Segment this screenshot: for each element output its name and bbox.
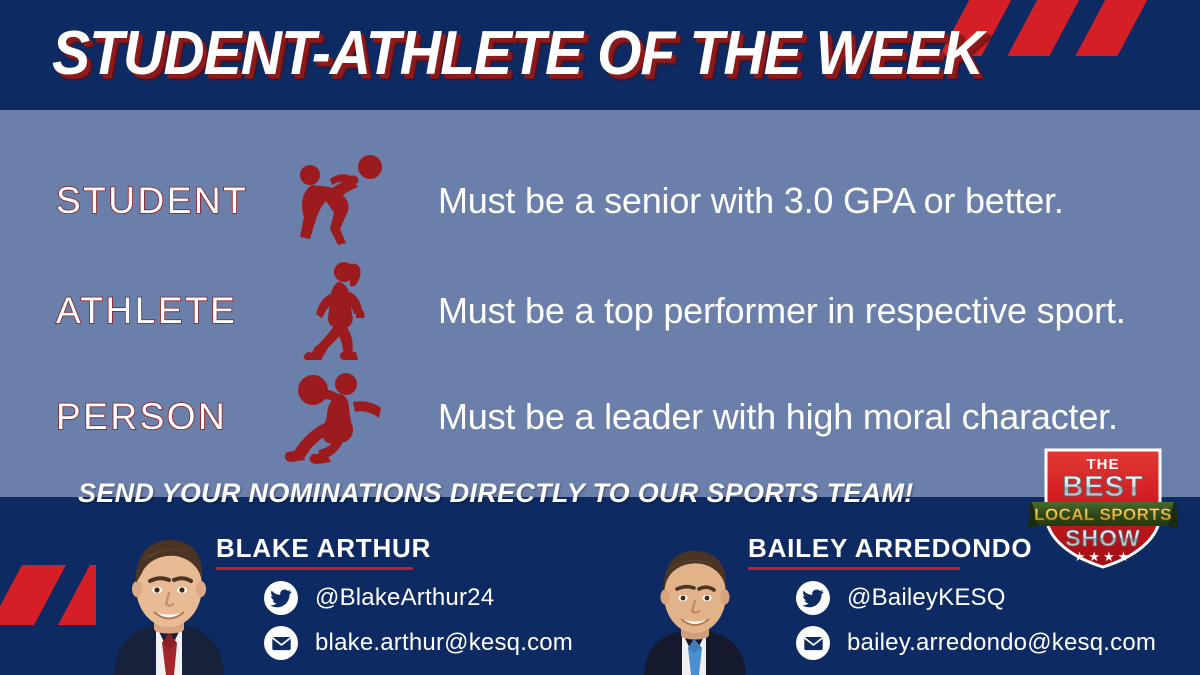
bailey-arredondo-headshot xyxy=(636,535,756,675)
basketball-player-icon xyxy=(278,365,398,469)
svg-text:LOCAL SPORTS: LOCAL SPORTS xyxy=(1034,505,1172,524)
email-address[interactable]: blake.arthur@kesq.com xyxy=(315,629,573,657)
email-address[interactable]: bailey.arredondo@kesq.com xyxy=(847,629,1156,657)
email-row[interactable]: blake.arthur@kesq.com xyxy=(264,626,573,660)
contact-block-blake-arthur: BLAKE ARTHUR @BlakeArthur24 blake.arthur… xyxy=(216,533,573,660)
criteria-label-athlete: ATHLETE xyxy=(56,290,296,332)
criteria-row: PERSON Must be a leader xyxy=(0,364,1200,470)
svg-text:BEST: BEST xyxy=(1062,471,1143,503)
runner-icon xyxy=(278,259,398,363)
page-title: STUDENT-ATHLETE OF THE WEEK xyxy=(52,14,983,94)
email-row[interactable]: bailey.arredondo@kesq.com xyxy=(796,626,1156,660)
twitter-handle-row[interactable]: @BlakeArthur24 xyxy=(264,581,573,615)
criteria-row: STUDENT Must be a senior with 3.0 GPA or… xyxy=(0,148,1200,254)
soccer-player-icon xyxy=(278,149,398,253)
twitter-icon[interactable] xyxy=(796,581,830,615)
criteria-label-student: STUDENT xyxy=(56,180,296,222)
best-local-sports-show-badge: THE BEST LOCAL SPORTS SHOW ★★★★ xyxy=(1028,436,1178,570)
twitter-handle[interactable]: @BlakeArthur24 xyxy=(315,584,494,612)
twitter-handle-row[interactable]: @BaileyKESQ xyxy=(796,581,1156,615)
svg-text:SHOW: SHOW xyxy=(1065,525,1141,551)
criteria-text-student: Must be a senior with 3.0 GPA or better. xyxy=(438,180,1064,222)
criteria-row: ATHLETE Mu xyxy=(0,258,1200,364)
contact-name-underline xyxy=(216,567,413,570)
student-athlete-of-the-week-poster: STUDENT-ATHLETE OF THE WEEK STUDENT xyxy=(0,0,1200,675)
envelope-icon[interactable] xyxy=(264,626,298,660)
criteria-text-athlete: Must be a top performer in respective sp… xyxy=(438,290,1126,332)
twitter-icon[interactable] xyxy=(264,581,298,615)
envelope-icon[interactable] xyxy=(796,626,830,660)
contact-name-underline xyxy=(748,567,960,570)
svg-text:★★★★: ★★★★ xyxy=(1074,550,1133,565)
criteria-text-person: Must be a leader with high moral charact… xyxy=(438,396,1118,438)
contact-name: BLAKE ARTHUR xyxy=(216,533,573,564)
twitter-handle[interactable]: @BaileyKESQ xyxy=(847,584,1006,612)
criteria-label-person: PERSON xyxy=(56,396,296,438)
nominations-callout: SEND YOUR NOMINATIONS DIRECTLY TO OUR SP… xyxy=(78,478,914,509)
